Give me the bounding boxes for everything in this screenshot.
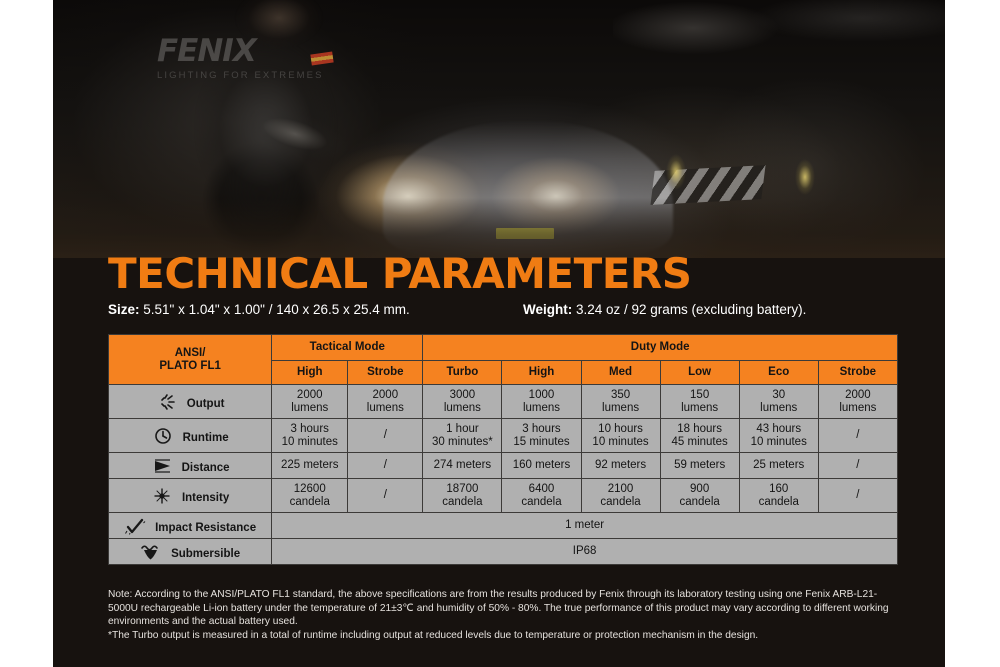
spec-table: ANSI/ PLATO FL1 Tactical Mode Duty Mode …: [108, 334, 898, 565]
table-head: ANSI/ PLATO FL1 Tactical Mode Duty Mode …: [109, 335, 898, 385]
cell-output-3: 1000lumens: [502, 385, 581, 419]
cell-distance-1: /: [348, 453, 423, 479]
footnote-block: Note: According to the ANSI/PLATO FL1 st…: [108, 588, 898, 642]
mode-header-5: Low: [660, 361, 739, 385]
row-label-text-distance: Distance: [182, 462, 230, 474]
cell-runtime-1: /: [348, 419, 423, 453]
cell-distance-5: 59 meters: [660, 453, 739, 479]
table-row-intensity: Intensity 12600candela / 18700candela 64…: [109, 479, 898, 513]
table-row-output: Output 2000lumens 2000lumens 3000lumens …: [109, 385, 898, 419]
mode-header-6: Eco: [739, 361, 818, 385]
table-group-row: ANSI/ PLATO FL1 Tactical Mode Duty Mode: [109, 335, 898, 361]
table-body: Output 2000lumens 2000lumens 3000lumens …: [109, 385, 898, 565]
cell-distance-7: /: [818, 453, 897, 479]
cell-intensity-4: 2100candela: [581, 479, 660, 513]
distance-icon: [151, 457, 177, 475]
row-label-text-output: Output: [187, 398, 225, 410]
intensity-icon: [151, 487, 177, 505]
row-label-impact-resistance: Impact Resistance: [109, 513, 272, 539]
mode-header-3: High: [502, 361, 581, 385]
table-row-impact-resistance: Impact Resistance 1 meter: [109, 513, 898, 539]
dark-content-panel: FENIX LIGHTING FOR EXTREMES TECHNICAL PA…: [53, 0, 945, 667]
row-label-intensity: Intensity: [109, 479, 272, 513]
table-row-runtime: Runtime 3 hours10 minutes / 1 hour30 min…: [109, 419, 898, 453]
cell-intensity-2: 18700candela: [423, 479, 502, 513]
mode-header-1: Strobe: [348, 361, 423, 385]
mode-header-0: High: [272, 361, 348, 385]
ansi-line-1: ANSI/: [109, 347, 271, 360]
cell-intensity-0: 12600candela: [272, 479, 348, 513]
cell-intensity-5: 900candela: [660, 479, 739, 513]
hi-vis-vest-left: [665, 150, 687, 194]
footnote-line-1: Note: According to the ANSI/PLATO FL1 st…: [108, 588, 898, 629]
cell-impact-resistance-value: 1 meter: [272, 513, 898, 539]
mode-header-4: Med: [581, 361, 660, 385]
cell-distance-0: 225 meters: [272, 453, 348, 479]
cell-intensity-3: 6400candela: [502, 479, 581, 513]
cell-distance-3: 160 meters: [502, 453, 581, 479]
cell-output-2: 3000lumens: [423, 385, 502, 419]
night-sky: [613, 0, 945, 96]
cell-runtime-0: 3 hours10 minutes: [272, 419, 348, 453]
cell-intensity-7: /: [818, 479, 897, 513]
cell-submersible-value: IP68: [272, 539, 898, 565]
group-header-tactical: Tactical Mode: [272, 335, 423, 361]
ansi-plato-corner: ANSI/ PLATO FL1: [109, 335, 272, 385]
runtime-icon: [152, 427, 178, 445]
row-label-text-submersible: Submersible: [171, 548, 240, 560]
mode-header-7: Strobe: [818, 361, 897, 385]
hi-vis-vest-right: [795, 156, 815, 198]
cell-runtime-2: 1 hour30 minutes*: [423, 419, 502, 453]
cell-runtime-5: 18 hours45 minutes: [660, 419, 739, 453]
group-header-duty: Duty Mode: [423, 335, 898, 361]
ansi-line-2: PLATO FL1: [109, 360, 271, 373]
page-root: FENIX LIGHTING FOR EXTREMES TECHNICAL PA…: [0, 0, 1000, 667]
table-row-submersible: Submersible IP68: [109, 539, 898, 565]
output-icon: [156, 393, 182, 411]
weight-label: Weight:: [523, 302, 572, 317]
cell-runtime-3: 3 hours15 minutes: [502, 419, 581, 453]
table-row-distance: Distance 225 meters / 274 meters 160 met…: [109, 453, 898, 479]
page-title: TECHNICAL PARAMETERS: [108, 253, 692, 295]
cell-runtime-6: 43 hours10 minutes: [739, 419, 818, 453]
row-label-distance: Distance: [109, 453, 272, 479]
submersible-icon: [140, 543, 166, 561]
cell-output-5: 150lumens: [660, 385, 739, 419]
size-value: 5.51" x 1.04" x 1.00" / 140 x 26.5 x 25.…: [140, 302, 410, 317]
mode-header-2: Turbo: [423, 361, 502, 385]
weight-value: 3.24 oz / 92 grams (excluding battery).: [572, 302, 806, 317]
cell-output-0: 2000lumens: [272, 385, 348, 419]
cell-intensity-1: /: [348, 479, 423, 513]
size-label: Size:: [108, 302, 140, 317]
cell-runtime-7: /: [818, 419, 897, 453]
cell-distance-4: 92 meters: [581, 453, 660, 479]
cell-distance-6: 25 meters: [739, 453, 818, 479]
cell-distance-2: 274 meters: [423, 453, 502, 479]
row-label-text-runtime: Runtime: [183, 432, 229, 444]
row-label-runtime: Runtime: [109, 419, 272, 453]
cell-output-7: 2000lumens: [818, 385, 897, 419]
hero-photo: [53, 0, 945, 258]
footnote-line-2: *The Turbo output is measured in a total…: [108, 629, 898, 643]
cell-output-4: 350lumens: [581, 385, 660, 419]
cell-output-1: 2000lumens: [348, 385, 423, 419]
row-label-submersible: Submersible: [109, 539, 272, 565]
cell-runtime-4: 10 hours10 minutes: [581, 419, 660, 453]
cell-output-6: 30lumens: [739, 385, 818, 419]
row-label-text-intensity: Intensity: [182, 492, 229, 504]
impact-icon: [124, 517, 150, 535]
row-label-output: Output: [109, 385, 272, 419]
row-label-text-impact-resistance: Impact Resistance: [155, 522, 256, 534]
spec-table-wrapper: ANSI/ PLATO FL1 Tactical Mode Duty Mode …: [108, 334, 898, 565]
cell-intensity-6: 160candela: [739, 479, 818, 513]
size-spec: Size: 5.51" x 1.04" x 1.00" / 140 x 26.5…: [108, 302, 410, 317]
weight-spec: Weight: 3.24 oz / 92 grams (excluding ba…: [523, 302, 806, 317]
